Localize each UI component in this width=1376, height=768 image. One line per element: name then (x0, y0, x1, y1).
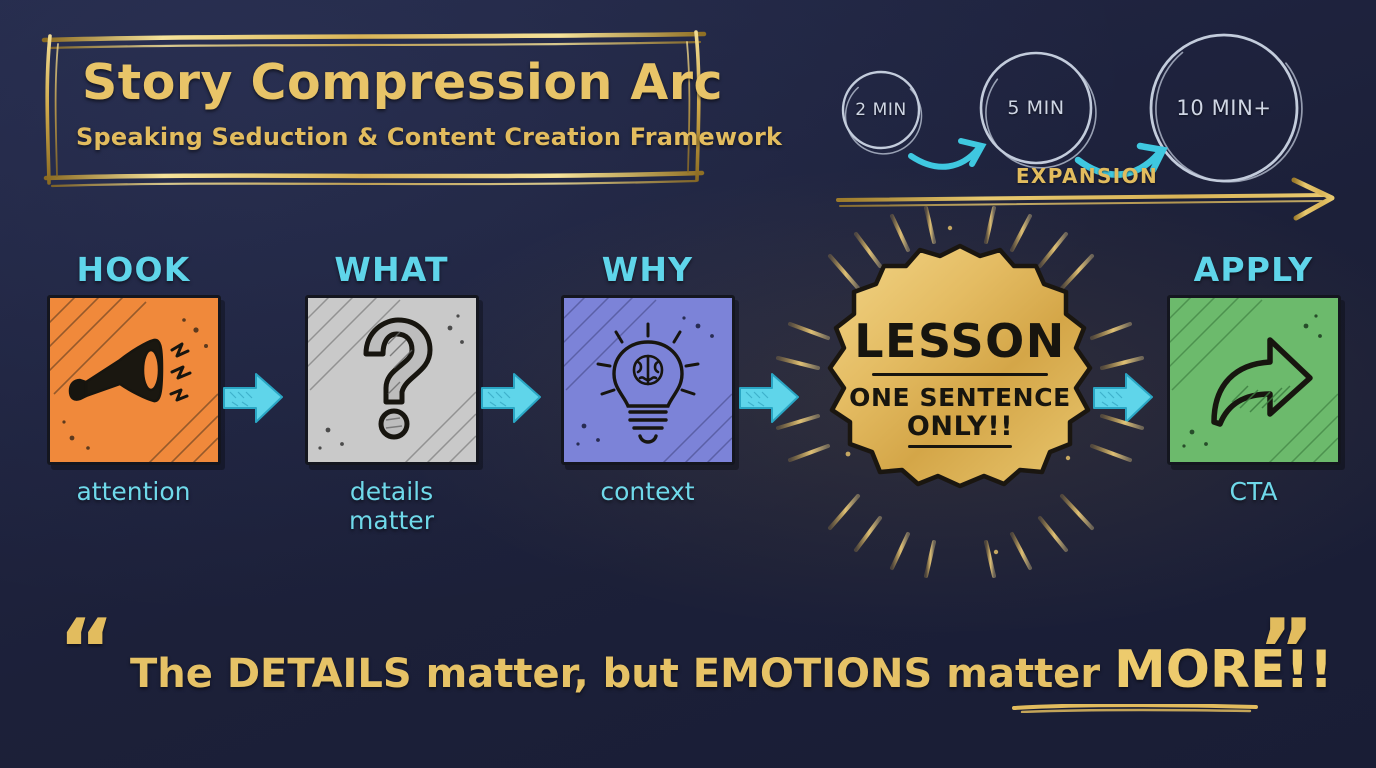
page-title: Story Compression Arc (82, 54, 682, 111)
flow-arrow-2-icon (480, 370, 542, 426)
flow-arrow-3-icon (738, 370, 800, 426)
timeline-stage-10min[interactable]: 10 MIN+ (1150, 34, 1298, 182)
timeline-stage-label: 2 MIN (855, 100, 907, 120)
expansion-timeline: 2 MIN 5 MIN 10 MIN+ EXPANSION (820, 28, 1360, 218)
footer-quote: “ ” The DETAILS matter, but EMOTIONS mat… (0, 600, 1376, 740)
quote-text-main: The DETAILS matter, but EMOTIONS matter (130, 651, 1114, 697)
timeline-arrow-1-icon (911, 141, 982, 167)
flow-step-caption: context (560, 477, 735, 506)
flow-step-card[interactable] (1167, 295, 1341, 465)
share-curved-arrow-icon (1170, 298, 1338, 462)
starburst-seal-icon (800, 222, 1120, 562)
flow-step-title: HOOK (46, 250, 221, 289)
flow-step-caption: details matter (304, 477, 479, 535)
flow-step-hook[interactable]: HOOK (46, 250, 221, 506)
megaphone-icon (50, 298, 218, 462)
quote-open-mark: “ (58, 608, 115, 694)
flow-step-title: WHY (560, 250, 735, 289)
brain-lightbulb-icon (564, 298, 732, 462)
infographic-canvas: Story Compression Arc Speaking Seduction… (0, 0, 1376, 768)
flow-step-title: WHAT (304, 250, 479, 289)
flow-step-what[interactable]: WHAT (304, 250, 479, 535)
expansion-label: EXPANSION (972, 164, 1202, 188)
lesson-burst[interactable]: LESSON ONE SENTENCE ONLY!! (800, 222, 1120, 562)
quote-emphasis: MORE!! (1114, 640, 1333, 700)
flow-step-caption: CTA (1166, 477, 1341, 506)
flow-step-why[interactable]: WHY (560, 250, 735, 506)
timeline-stage-label: 5 MIN (1007, 97, 1064, 119)
flow-arrow-1-icon (222, 370, 284, 426)
flow-step-apply[interactable]: APPLY (1166, 250, 1341, 506)
flow-step-title: APPLY (1166, 250, 1341, 289)
quote-text: The DETAILS matter, but EMOTIONS matter … (130, 640, 1250, 700)
flow-step-caption: attention (46, 477, 221, 506)
title-frame: Story Compression Arc Speaking Seduction… (36, 28, 696, 186)
flow-step-card[interactable] (47, 295, 221, 465)
timeline-stage-label: 10 MIN+ (1176, 96, 1271, 120)
timeline-stage-5min[interactable]: 5 MIN (980, 52, 1092, 164)
flow-row: HOOK (0, 250, 1376, 550)
timeline-stage-2min[interactable]: 2 MIN (842, 71, 920, 149)
flow-step-card[interactable] (305, 295, 479, 465)
flow-step-card[interactable] (561, 295, 735, 465)
quote-underline-icon (1012, 704, 1258, 713)
question-mark-icon (308, 298, 476, 462)
page-subtitle: Speaking Seduction & Content Creation Fr… (76, 123, 696, 151)
